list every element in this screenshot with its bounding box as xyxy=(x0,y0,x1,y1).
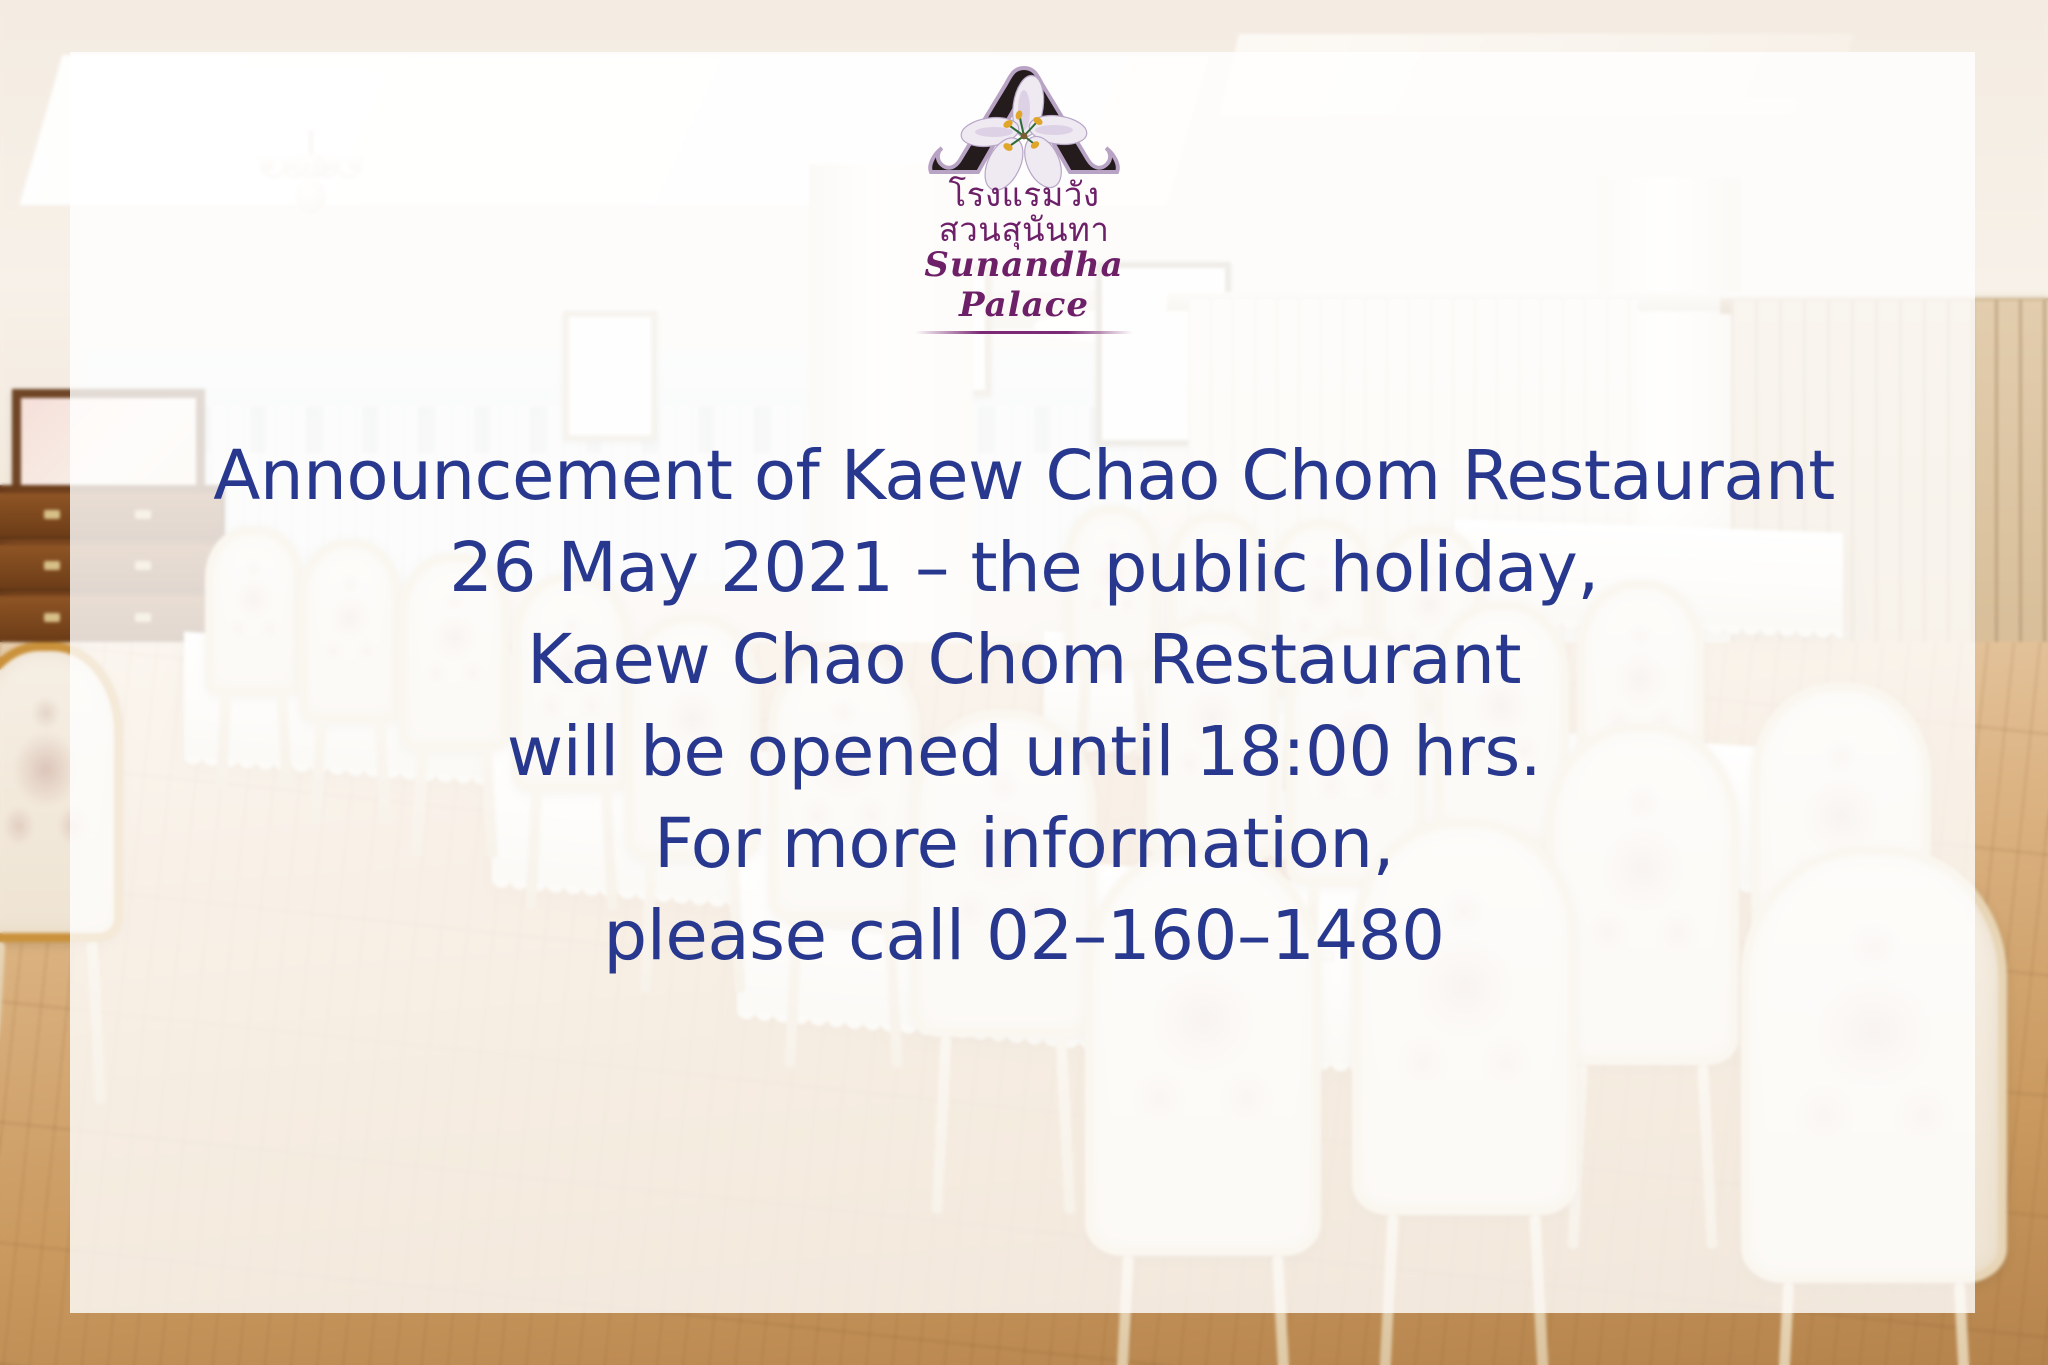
logo-underline xyxy=(915,331,1133,334)
announcement-line-3: Kaew Chao Chom Restaurant xyxy=(0,614,2048,706)
announcement-line-6: please call 02–160–1480 xyxy=(0,890,2048,982)
announcement-poster: โรงแรมวังสวนสุนันทา Sunandha Palace Anno… xyxy=(0,0,2048,1365)
announcement-line-2: 26 May 2021 – the public holiday, xyxy=(0,522,2048,614)
sunandha-palace-logo: โรงแรมวังสวนสุนันทา Sunandha Palace xyxy=(874,62,1174,334)
logo-latin-name: Sunandha Palace xyxy=(874,245,1174,325)
announcement-text: Announcement of Kaew Chao Chom Restauran… xyxy=(0,430,2048,982)
announcement-line-4: will be opened until 18:00 hrs. xyxy=(0,706,2048,798)
announcement-line-1: Announcement of Kaew Chao Chom Restauran… xyxy=(0,430,2048,522)
announcement-line-5: For more information, xyxy=(0,798,2048,890)
logo-thai-name: โรงแรมวังสวนสุนันทา xyxy=(874,178,1174,247)
